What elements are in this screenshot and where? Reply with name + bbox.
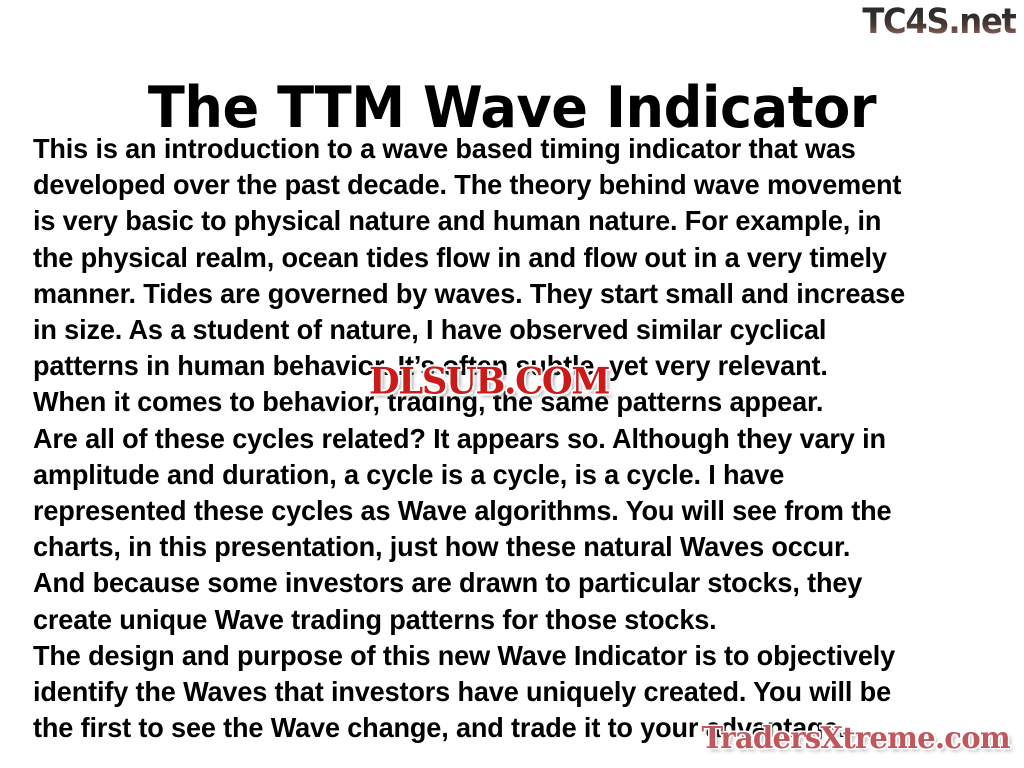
body-line: And because some investors are drawn to … <box>33 565 986 601</box>
body-line: represented these cycles as Wave algorit… <box>33 493 986 529</box>
body-line: is very basic to physical nature and hum… <box>33 203 986 239</box>
body-line: developed over the past decade. The theo… <box>33 167 986 203</box>
body-line: identify the Waves that investors have u… <box>33 674 986 710</box>
slide-body-text: This is an introduction to a wave based … <box>33 131 986 746</box>
body-line: in size. As a student of nature, I have … <box>33 312 986 348</box>
brand-logo-tc4s: TC4S.net <box>863 2 1016 42</box>
slide-canvas: { "slide": { "title": "The TTM Wave Indi… <box>0 0 1024 768</box>
body-line: This is an introduction to a wave based … <box>33 131 986 167</box>
watermark-dlsub: DLSUB.COM <box>369 362 609 401</box>
body-line: Are all of these cycles related? It appe… <box>33 421 986 457</box>
body-line: The design and purpose of this new Wave … <box>33 638 986 674</box>
body-line: create unique Wave trading patterns for … <box>33 602 986 638</box>
body-line: amplitude and duration, a cycle is a cyc… <box>33 457 986 493</box>
watermark-tradersxtreme: TradersXtreme.com <box>702 722 1010 756</box>
body-line: the physical realm, ocean tides flow in … <box>33 240 986 276</box>
body-line: charts, in this presentation, just how t… <box>33 529 986 565</box>
body-line: manner. Tides are governed by waves. The… <box>33 276 986 312</box>
